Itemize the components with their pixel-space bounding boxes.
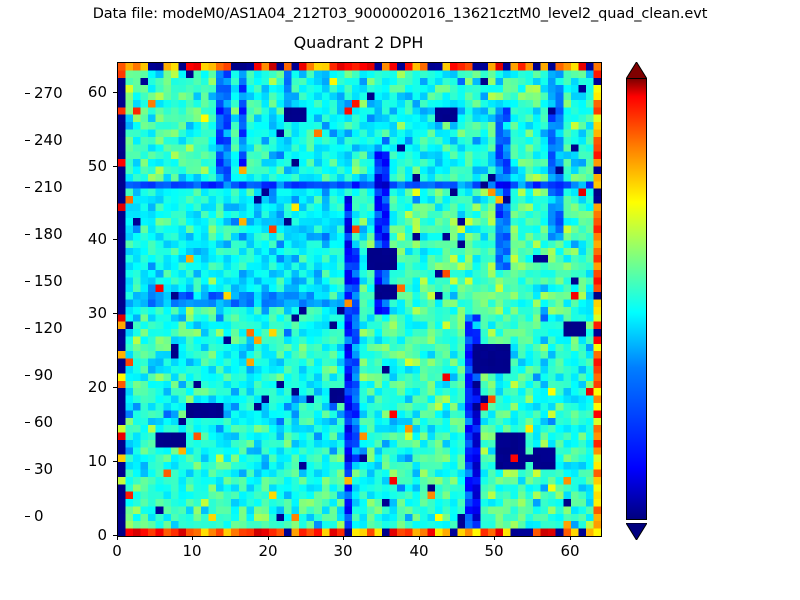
- figure-suptitle: Data file: modeM0/AS1A04_212T03_90000020…: [0, 6, 800, 22]
- y-tick-label: 30: [107, 304, 126, 322]
- colorbar-tick-mark: [25, 375, 30, 376]
- heatmap-axes[interactable]: [117, 62, 602, 537]
- colorbar-tick-mark: [25, 422, 30, 423]
- colorbar-gradient: [626, 78, 647, 520]
- colorbar-tick-label: 270: [34, 84, 63, 102]
- y-tick-label: 20: [107, 378, 126, 396]
- x-tick-label: 60: [560, 542, 579, 560]
- y-tick-label: 60: [107, 83, 126, 101]
- colorbar-tick-label: 90: [34, 366, 53, 384]
- colorbar-tick-label: 180: [34, 225, 63, 243]
- y-tick-label: 50: [107, 157, 126, 175]
- colorbar-tick-label: 210: [34, 178, 63, 196]
- colorbar-tick-mark: [25, 140, 30, 141]
- y-tick-label: 10: [107, 452, 126, 470]
- x-tick-label: 0: [112, 542, 122, 560]
- x-tick-label: 30: [333, 542, 352, 560]
- colorbar-tick-mark: [25, 328, 30, 329]
- colorbar-tick-mark: [25, 93, 30, 94]
- y-tick-label: 0: [107, 526, 117, 544]
- colorbar-tick-label: 0: [34, 507, 44, 525]
- x-tick-mark: [192, 536, 193, 540]
- x-tick-mark: [419, 536, 420, 540]
- x-tick-mark: [494, 536, 495, 540]
- x-tick-mark: [268, 536, 269, 540]
- matplotlib-figure: Data file: modeM0/AS1A04_212T03_90000020…: [0, 0, 800, 600]
- x-tick-label: 10: [182, 542, 201, 560]
- heatmap-image[interactable]: [118, 63, 601, 536]
- colorbar-tick-label: 150: [34, 272, 63, 290]
- x-tick-mark: [117, 536, 118, 540]
- x-tick-mark: [570, 536, 571, 540]
- x-tick-label: 50: [484, 542, 503, 560]
- axes-title: Quadrant 2 DPH: [117, 33, 600, 52]
- y-tick-label: 40: [107, 230, 126, 248]
- colorbar-tick-mark: [25, 234, 30, 235]
- colorbar-under-arrow-icon: [626, 523, 647, 540]
- colorbar-tick-mark: [25, 281, 30, 282]
- colorbar-tick-mark: [25, 469, 30, 470]
- x-tick-mark: [343, 536, 344, 540]
- colorbar-tick-label: 240: [34, 131, 63, 149]
- colorbar[interactable]: [622, 62, 652, 540]
- colorbar-tick-label: 30: [34, 460, 53, 478]
- colorbar-tick-mark: [25, 187, 30, 188]
- x-tick-label: 20: [258, 542, 277, 560]
- colorbar-tick-label: 60: [34, 413, 53, 431]
- colorbar-tick-mark: [25, 516, 30, 517]
- x-tick-label: 40: [409, 542, 428, 560]
- colorbar-over-arrow-icon: [626, 62, 647, 79]
- colorbar-tick-label: 120: [34, 319, 63, 337]
